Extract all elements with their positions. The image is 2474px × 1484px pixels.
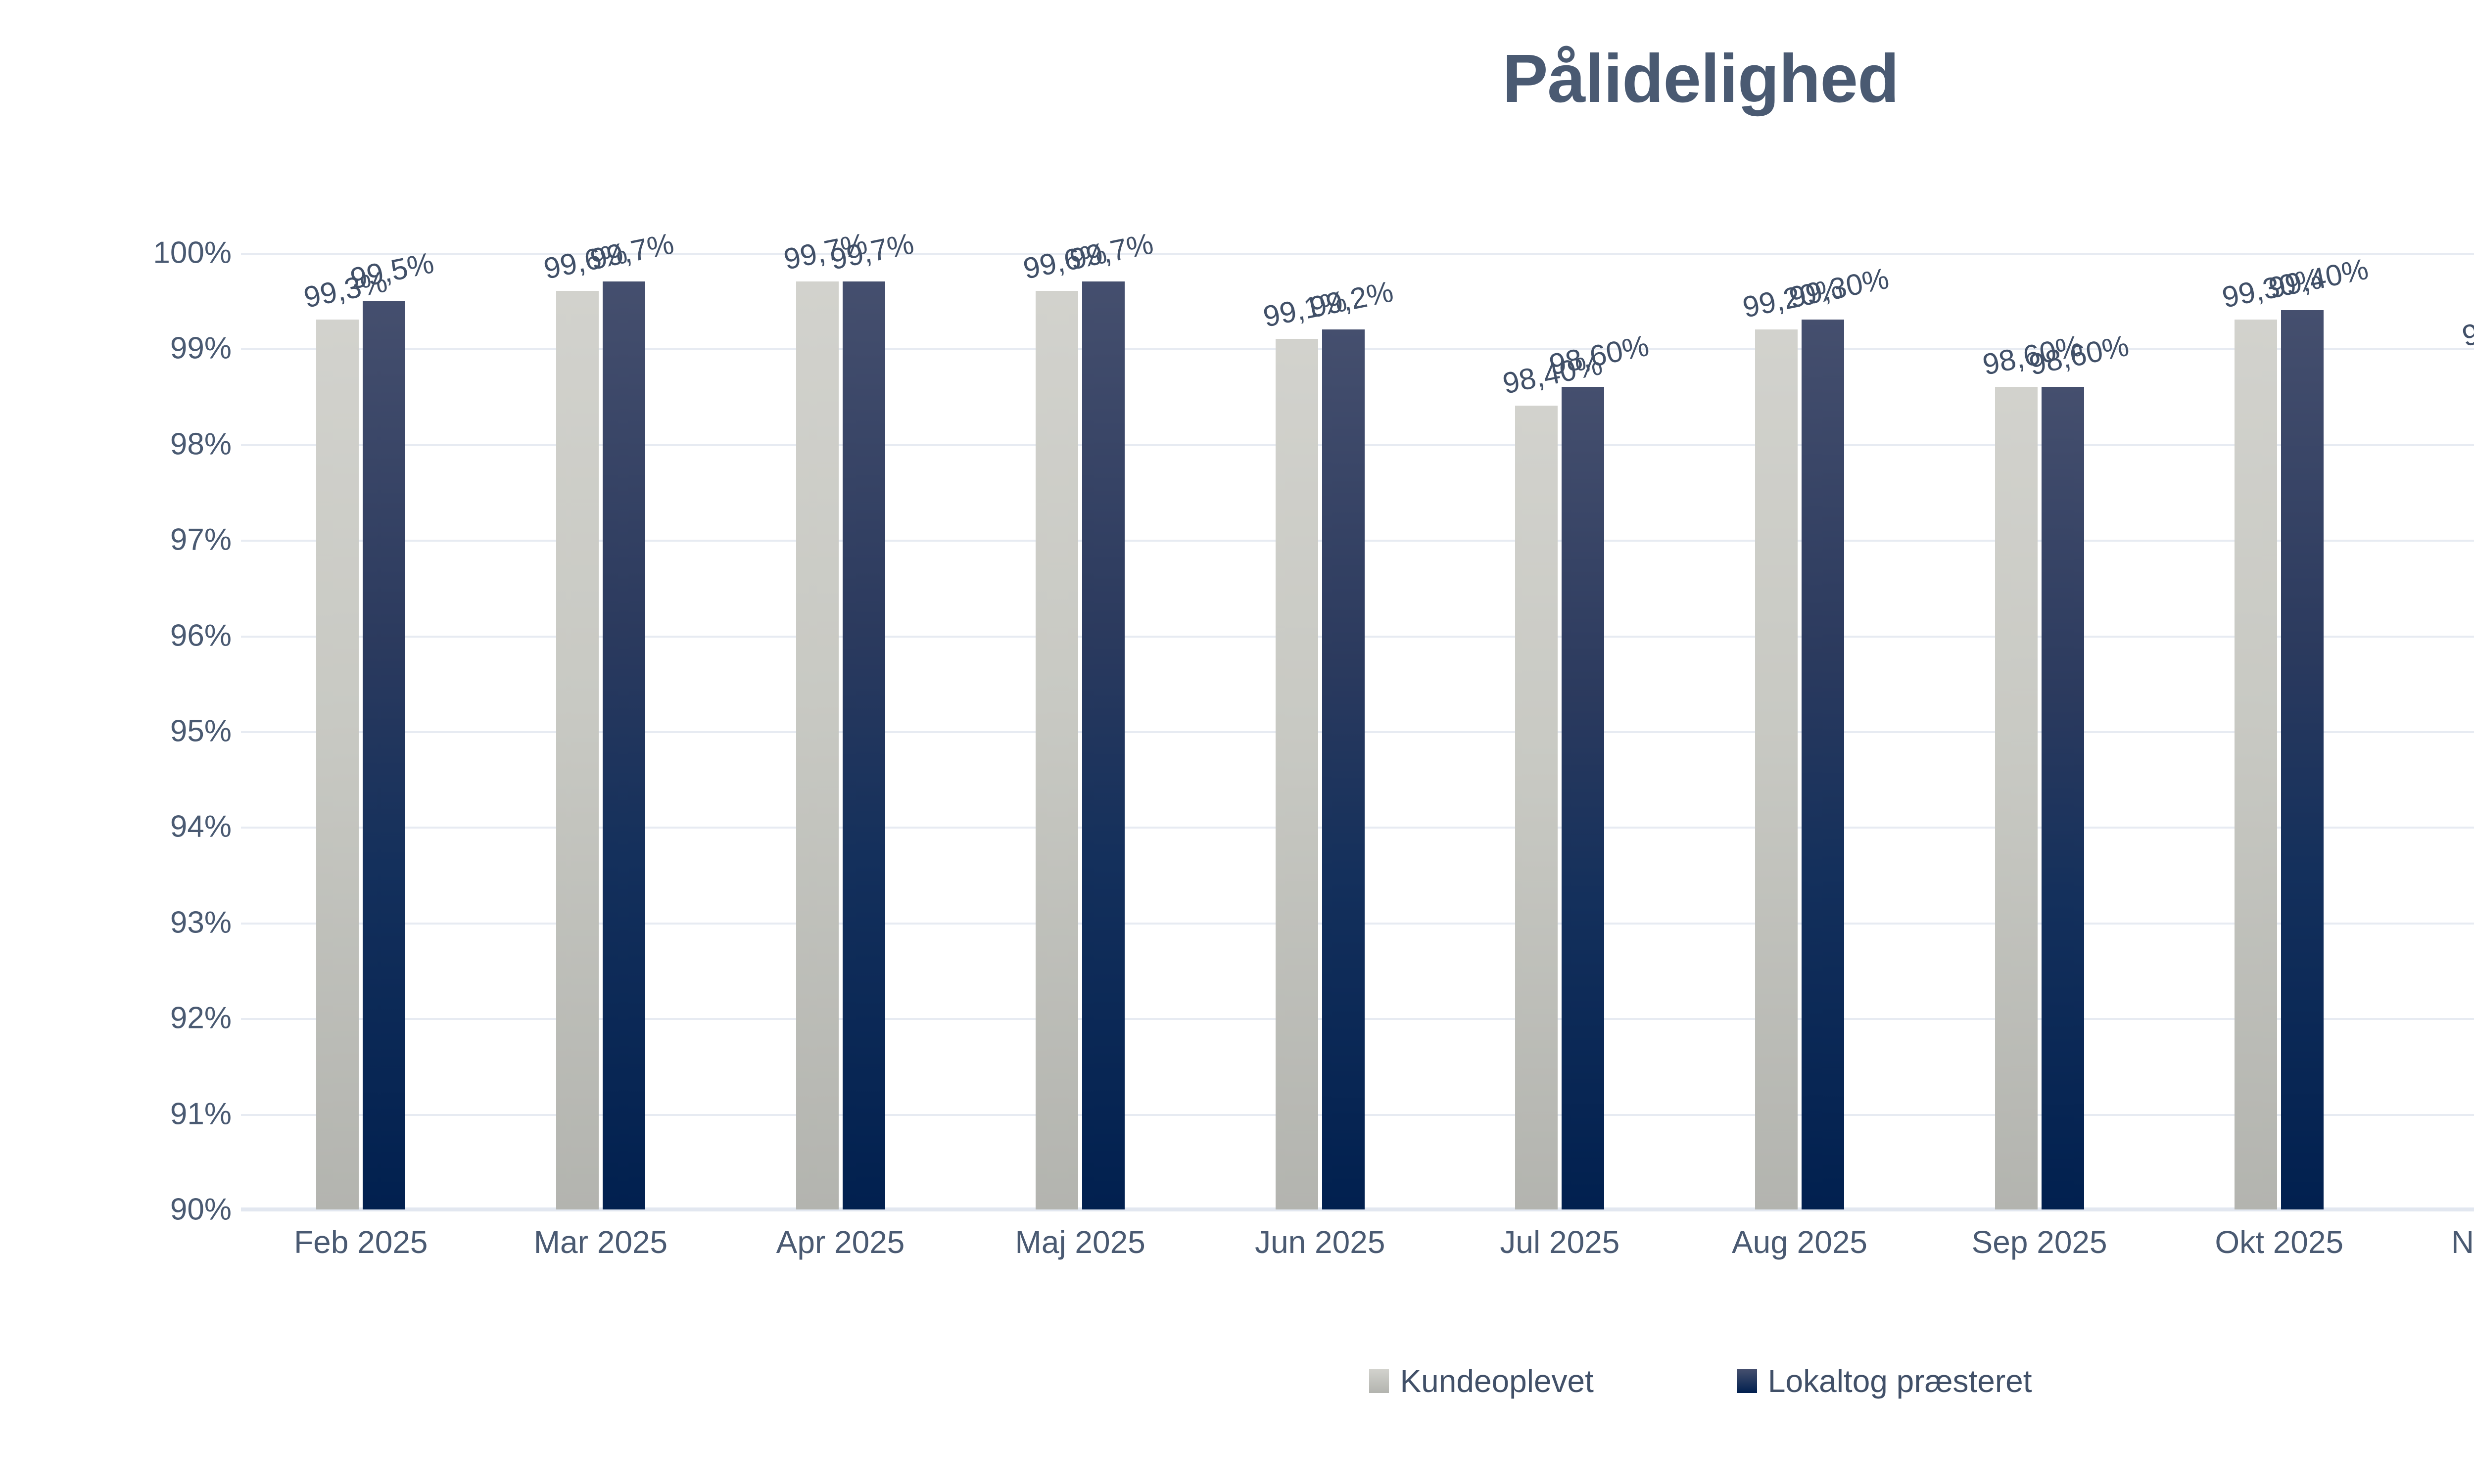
bar-kundeoplevet[interactable] <box>316 320 359 1209</box>
bar-kundeoplevet[interactable] <box>1755 329 1798 1209</box>
y-axis-tick-label: 98% <box>128 426 232 462</box>
bar-kundeoplevet[interactable] <box>1995 387 2038 1209</box>
bar-kundeoplevet[interactable] <box>1276 339 1318 1209</box>
y-axis-tick-label: 95% <box>128 714 232 749</box>
x-axis-tick-label: Nov 2025 <box>2399 1224 2474 1260</box>
bar-kundeoplevet[interactable] <box>2235 320 2277 1209</box>
bar-group: 99,6%99,7% <box>481 253 721 1209</box>
bar-value-label: 99,30% <box>1787 264 1891 313</box>
legend-label: Kundeoplevet <box>1400 1363 1593 1399</box>
bar-lokaltog-praesteret[interactable] <box>603 281 645 1209</box>
y-axis-tick-label: 92% <box>128 1001 232 1036</box>
bar-lokaltog-praesteret[interactable] <box>1562 387 1604 1209</box>
bar-group: 99,6%99,7% <box>960 253 1200 1209</box>
bar-value-label: 99,2% <box>1307 277 1396 323</box>
bar-kundeoplevet[interactable] <box>556 291 599 1209</box>
x-axis-tick-label: Sep 2025 <box>1919 1224 2159 1260</box>
chart-container: Pålidelighed 100%99%98%97%96%95%94%93%92… <box>0 0 2474 1484</box>
y-axis-tick-label: 94% <box>128 809 232 844</box>
chart-legend: KundeoplevetLokaltog præsteret <box>0 1363 2474 1399</box>
legend-swatch-icon <box>1737 1369 1757 1393</box>
bar-lokaltog-praesteret[interactable] <box>2042 387 2084 1209</box>
bar-group: 99,1%99,2% <box>1200 253 1440 1209</box>
y-axis-tick-label: 97% <box>128 522 232 557</box>
bar-group: 99,3%99,5% <box>241 253 481 1209</box>
bar-lokaltog-praesteret[interactable] <box>1322 329 1365 1209</box>
bar-lokaltog-praesteret[interactable] <box>2281 310 2324 1209</box>
y-axis-tick-label: 91% <box>128 1096 232 1131</box>
bar-value-label: 99,7% <box>588 229 676 275</box>
legend-item-kundeoplevet[interactable]: Kundeoplevet <box>1369 1363 1593 1399</box>
bar-kundeoplevet[interactable] <box>796 281 839 1209</box>
bar-lokaltog-praesteret[interactable] <box>1082 281 1125 1209</box>
bar-group: 99,20%99,30% <box>1680 253 1920 1209</box>
bar-value-label: 99,5% <box>348 248 436 294</box>
x-axis-tick-label: Mar 2025 <box>481 1224 721 1260</box>
y-axis-tick-label: 93% <box>128 905 232 940</box>
bar-group: 99,30%99,40% <box>2159 253 2399 1209</box>
x-axis-tick-label: Feb 2025 <box>241 1224 481 1260</box>
bar-kundeoplevet[interactable] <box>1036 291 1078 1209</box>
legend-item-lokaltog-praesteret[interactable]: Lokaltog præsteret <box>1737 1363 2032 1399</box>
bar-lokaltog-praesteret[interactable] <box>843 281 885 1209</box>
y-axis-tick-label: 96% <box>128 618 232 653</box>
bar-value-label: 99,7% <box>1067 229 1156 275</box>
legend-swatch-icon <box>1369 1369 1389 1393</box>
bar-group: 98,60%98,60% <box>1919 253 2159 1209</box>
plot-area: 99,3%99,5%99,6%99,7%99,7%99,7%99,6%99,7%… <box>241 253 2474 1209</box>
legend-label: Lokaltog præsteret <box>1768 1363 2032 1399</box>
x-axis-tick-label: Jun 2025 <box>1200 1224 1440 1260</box>
y-axis-tick-label: 100% <box>128 235 232 271</box>
x-axis-tick-label: Maj 2025 <box>960 1224 1200 1260</box>
bar-lokaltog-praesteret[interactable] <box>363 301 405 1209</box>
y-axis-tick-label: 99% <box>128 331 232 366</box>
bar-group: 98,40%98,60% <box>1440 253 1680 1209</box>
bar-kundeoplevet[interactable] <box>1515 406 1558 1209</box>
bar-value-label: 99,40% <box>2266 254 2371 303</box>
x-axis-tick-label: Apr 2025 <box>720 1224 960 1260</box>
bar-lokaltog-praesteret[interactable] <box>1802 320 1844 1209</box>
x-axis-tick-label: Aug 2025 <box>1680 1224 1920 1260</box>
chart-title: Pålidelighed <box>0 45 2474 113</box>
y-axis-tick-label: 90% <box>128 1192 232 1227</box>
bar-value-label: 98,90% <box>2460 302 2474 351</box>
x-axis-tick-label: Jul 2025 <box>1440 1224 1680 1260</box>
bar-group: 99,7%99,7% <box>720 253 960 1209</box>
bar-group: 98,90%99,10% <box>2399 253 2474 1209</box>
x-axis-tick-label: Okt 2025 <box>2159 1224 2399 1260</box>
